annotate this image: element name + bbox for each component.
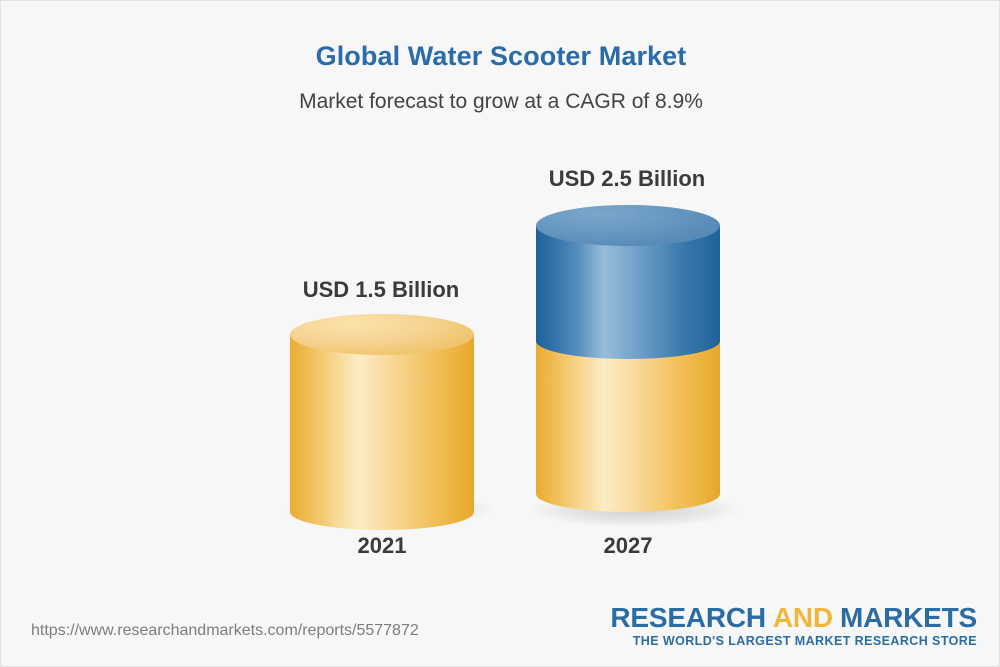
bar-category-label-2021: 2021 (242, 533, 522, 559)
cylinder-top-2027 (536, 205, 720, 246)
logo-word-markets: MARKETS (840, 602, 977, 633)
bar-cylinder-2021[interactable] (290, 314, 474, 512)
logo-tagline: THE WORLD'S LARGEST MARKET RESEARCH STOR… (610, 633, 977, 649)
bar-category-label-2027: 2027 (488, 533, 768, 559)
bar-cylinder-2027[interactable] (536, 205, 720, 512)
logo-word-research: RESEARCH (610, 602, 766, 633)
logo-wordmark: RESEARCHANDMARKETS (610, 603, 977, 633)
cylinder-base-segment-2027 (536, 322, 720, 494)
bar-value-label-2021: USD 1.5 Billion (241, 277, 521, 303)
research-and-markets-logo[interactable]: RESEARCHANDMARKETS THE WORLD'S LARGEST M… (610, 603, 977, 649)
infographic-canvas: Global Water Scooter Market Market forec… (0, 0, 1000, 667)
report-url-link[interactable]: https://www.researchandmarkets.com/repor… (31, 622, 419, 640)
chart-plot-area: USD 1.5 Billion 2021 USD 2.5 Billion (1, 1, 1000, 601)
bar-value-label-2027: USD 2.5 Billion (487, 166, 767, 192)
cylinder-body-2021 (290, 334, 474, 512)
cylinder-top-2021 (290, 314, 474, 355)
logo-word-and: AND (773, 602, 833, 633)
